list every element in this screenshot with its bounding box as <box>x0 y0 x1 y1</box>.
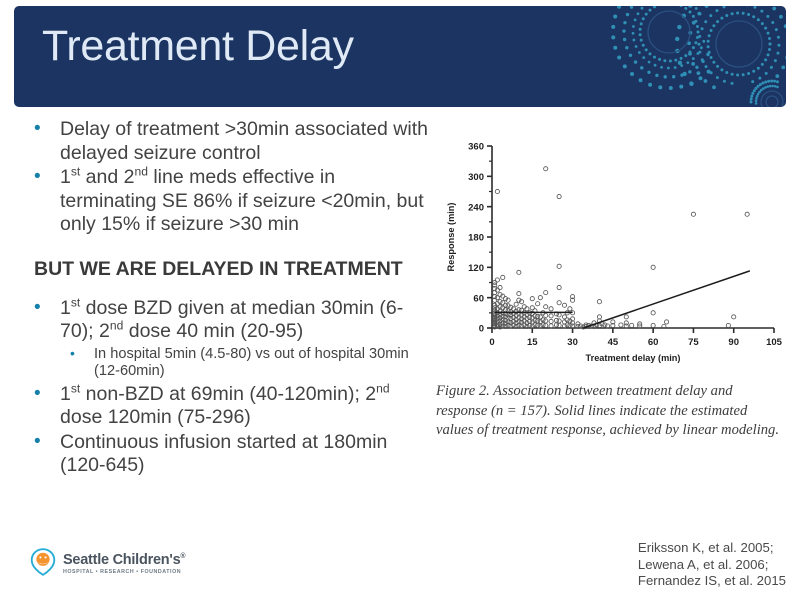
citation-line-3: Fernandez IS, et al. 2015 <box>638 573 786 590</box>
scatter-plot-svg: 0601201802403003600153045607590105Treatm… <box>436 132 788 376</box>
svg-text:0: 0 <box>489 337 494 348</box>
slide-body-content: Delay of treatment >30min associated wit… <box>22 118 432 479</box>
citation-line-1: Eriksson K, et al. 2005; <box>638 540 786 557</box>
citation-line-2: Lewena A, et al. 2006; <box>638 557 786 574</box>
logo-name: Seattle Children's® <box>63 549 185 568</box>
bullet-continuous-infusion: Continuous infusion started at 180min (1… <box>22 431 432 478</box>
registered-trademark-icon: ® <box>180 553 185 560</box>
figure-caption: Figure 2. Association between treatment … <box>436 382 784 441</box>
svg-text:180: 180 <box>468 233 484 244</box>
page-title: Treatment Delay <box>42 22 354 71</box>
bullet-non-bzd: 1st non-BZD at 69min (40-120min); 2nd do… <box>22 383 432 430</box>
bullet-line-meds: 1st and 2nd line meds effective in termi… <box>22 166 432 237</box>
svg-text:300: 300 <box>468 172 484 183</box>
svg-text:0: 0 <box>479 324 484 335</box>
svg-text:60: 60 <box>473 293 484 304</box>
scatter-plot: 0601201802403003600153045607590105Treatm… <box>436 132 788 376</box>
citation-block: Eriksson K, et al. 2005; Lewena A, et al… <box>638 540 786 590</box>
svg-text:90: 90 <box>728 337 739 348</box>
svg-text:120: 120 <box>468 263 484 274</box>
logo-wordmark: Seattle Children's® HOSPITAL • RESEARCH … <box>63 549 185 576</box>
logo-tagline: HOSPITAL • RESEARCH • FOUNDATION <box>63 569 185 575</box>
heading-delayed-in-treatment: BUT WE ARE DELAYED IN TREATMENT <box>34 257 432 281</box>
svg-text:15: 15 <box>527 337 538 348</box>
svg-text:105: 105 <box>766 337 783 348</box>
svg-text:45: 45 <box>608 337 619 348</box>
svg-text:240: 240 <box>468 202 484 213</box>
seattle-childrens-logo: Seattle Children's® HOSPITAL • RESEARCH … <box>30 548 185 576</box>
svg-text:Treatment delay (min): Treatment delay (min) <box>586 353 681 363</box>
svg-text:60: 60 <box>648 337 659 348</box>
svg-text:75: 75 <box>688 337 699 348</box>
seattle-childrens-logo-icon <box>30 548 56 576</box>
bullet-first-dose-bzd: 1st dose BZD given at median 30min (6-70… <box>22 297 432 344</box>
bullet-delay-treatment: Delay of treatment >30min associated wit… <box>22 118 432 165</box>
decorative-dot-circles <box>596 6 786 107</box>
bullet-list-secondary: 1st dose BZD given at median 30min (6-70… <box>22 297 432 478</box>
svg-text:30: 30 <box>567 337 578 348</box>
svg-text:Response (min): Response (min) <box>446 203 456 272</box>
slide-title-bar: Treatment Delay <box>14 6 786 107</box>
bullet-in-hospital: In hospital 5min (4.5-80) vs out of hosp… <box>22 346 432 381</box>
svg-text:360: 360 <box>468 142 484 153</box>
figure-container: 0601201802403003600153045607590105Treatm… <box>436 132 788 441</box>
bullet-list-primary: Delay of treatment >30min associated wit… <box>22 118 432 237</box>
